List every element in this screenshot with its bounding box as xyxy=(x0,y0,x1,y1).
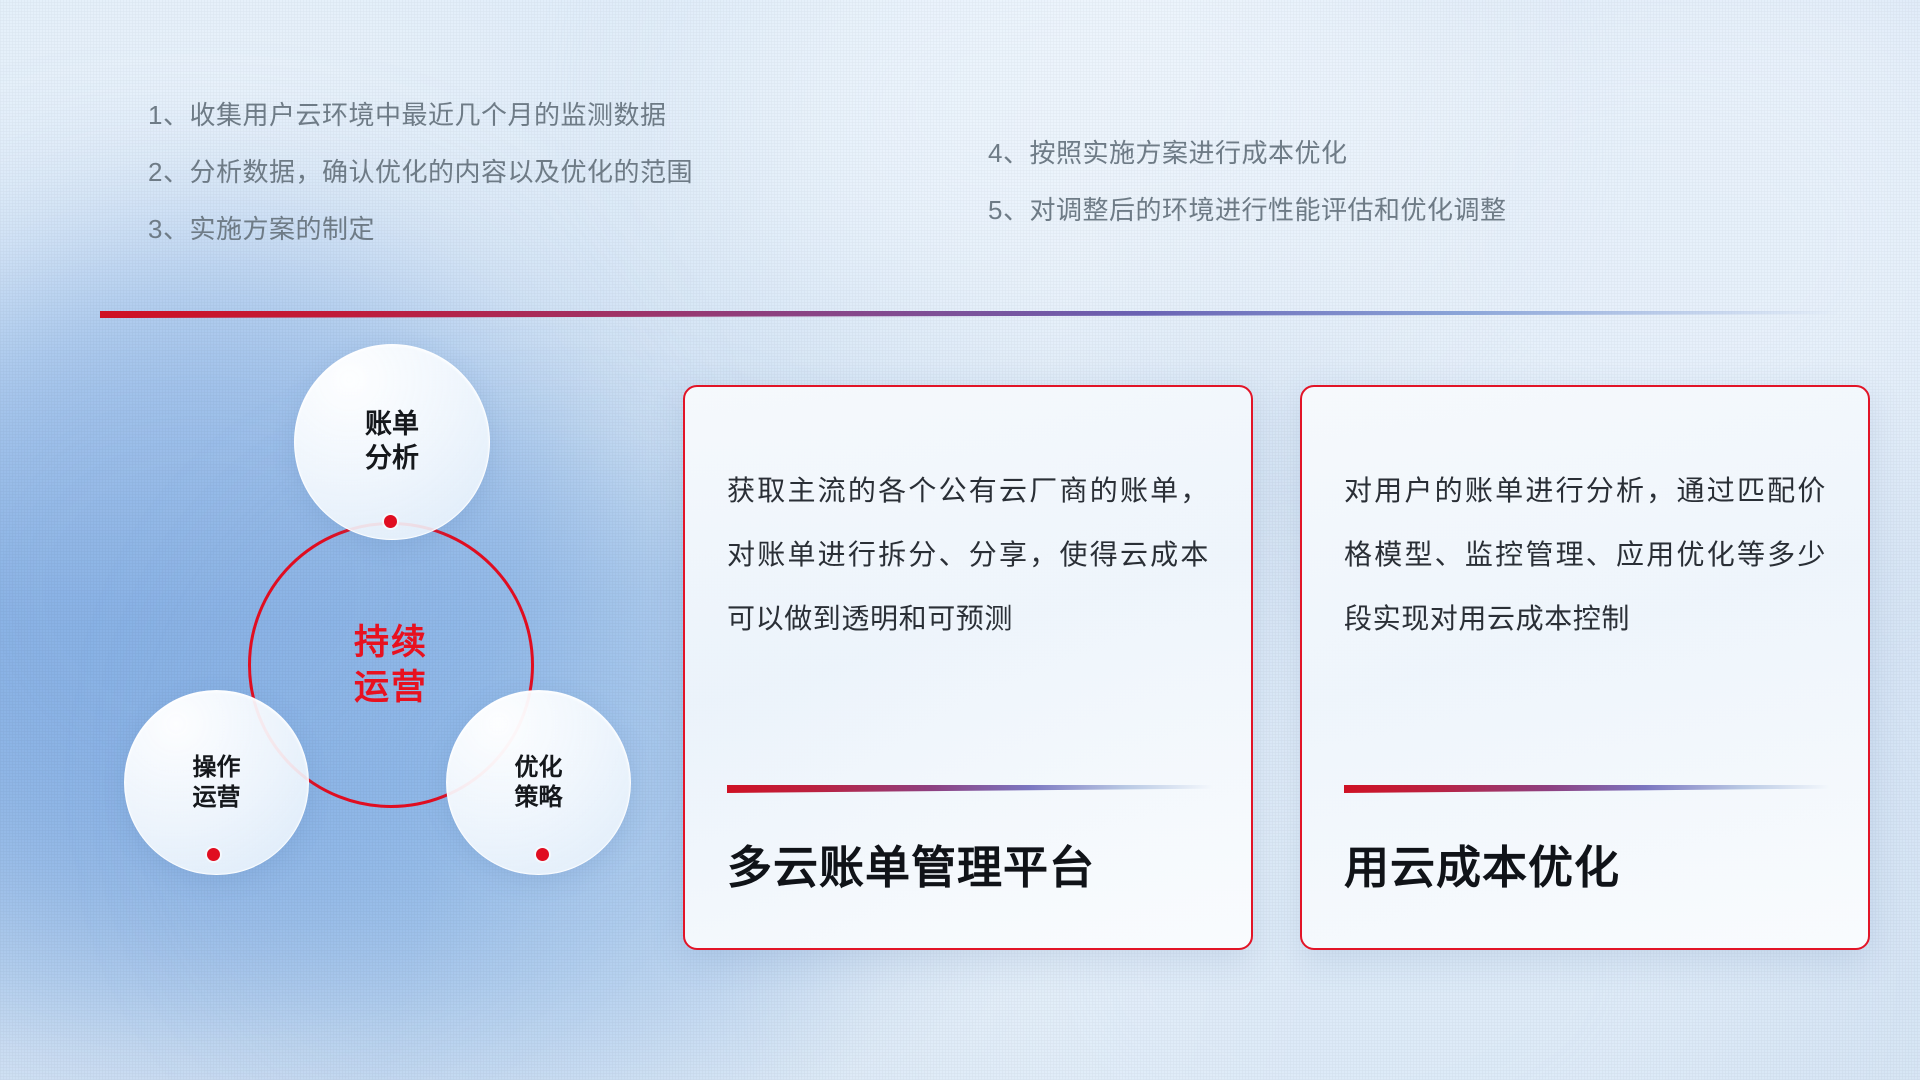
card-multicloud-billing-title: 多云账单管理平台 xyxy=(727,831,1213,896)
card-cloud-cost-optimization-title: 用云成本优化 xyxy=(1344,831,1830,896)
bubble-operations-line1: 操作 xyxy=(193,753,241,783)
card-cloud-cost-optimization[interactable]: 对用户的账单进行分析，通过匹配价格模型、监控管理、应用优化等多少段实现对用云成本… xyxy=(1300,385,1870,950)
node-dot-left-icon xyxy=(207,848,220,861)
card-multicloud-billing[interactable]: 获取主流的各个公有云厂商的账单，对账单进行拆分、分享，使得云成本可以做到透明和可… xyxy=(683,385,1253,950)
card-multicloud-billing-rule xyxy=(727,785,1213,793)
step-item-3: 3、实施方案的制定 xyxy=(148,216,693,242)
step-item-5: 5、对调整后的环境进行性能评估和优化调整 xyxy=(988,197,1506,223)
step-item-1: 1、收集用户云环境中最近几个月的监测数据 xyxy=(148,102,693,128)
venn-diagram: 账单 分析 操作 运营 优化 策略 持续 运营 xyxy=(96,350,566,930)
bubble-bill-analysis-line1: 账单 xyxy=(365,408,419,442)
node-dot-top-icon xyxy=(384,515,397,528)
node-dot-right-icon xyxy=(536,848,549,861)
venn-center-label-line1: 持续 xyxy=(354,620,428,666)
card-multicloud-billing-body: 获取主流的各个公有云厂商的账单，对账单进行拆分、分享，使得云成本可以做到透明和可… xyxy=(727,459,1209,650)
bubble-bill-analysis-line2: 分析 xyxy=(365,442,419,476)
steps-column-right: 4、按照实施方案进行成本优化 5、对调整后的环境进行性能评估和优化调整 xyxy=(988,140,1506,254)
steps-column-left: 1、收集用户云环境中最近几个月的监测数据 2、分析数据，确认优化的内容以及优化的… xyxy=(148,102,693,273)
card-cloud-cost-optimization-rule xyxy=(1344,785,1830,793)
step-item-4: 4、按照实施方案进行成本优化 xyxy=(988,140,1506,166)
venn-center-label: 持续 运营 xyxy=(248,522,534,808)
bubble-bill-analysis[interactable]: 账单 分析 xyxy=(294,344,490,540)
card-cloud-cost-optimization-body: 对用户的账单进行分析，通过匹配价格模型、监控管理、应用优化等多少段实现对用云成本… xyxy=(1344,459,1826,650)
venn-center-label-line2: 运营 xyxy=(354,665,428,711)
step-item-2: 2、分析数据，确认优化的内容以及优化的范围 xyxy=(148,159,693,185)
bubble-operations-line2: 运营 xyxy=(193,783,241,813)
